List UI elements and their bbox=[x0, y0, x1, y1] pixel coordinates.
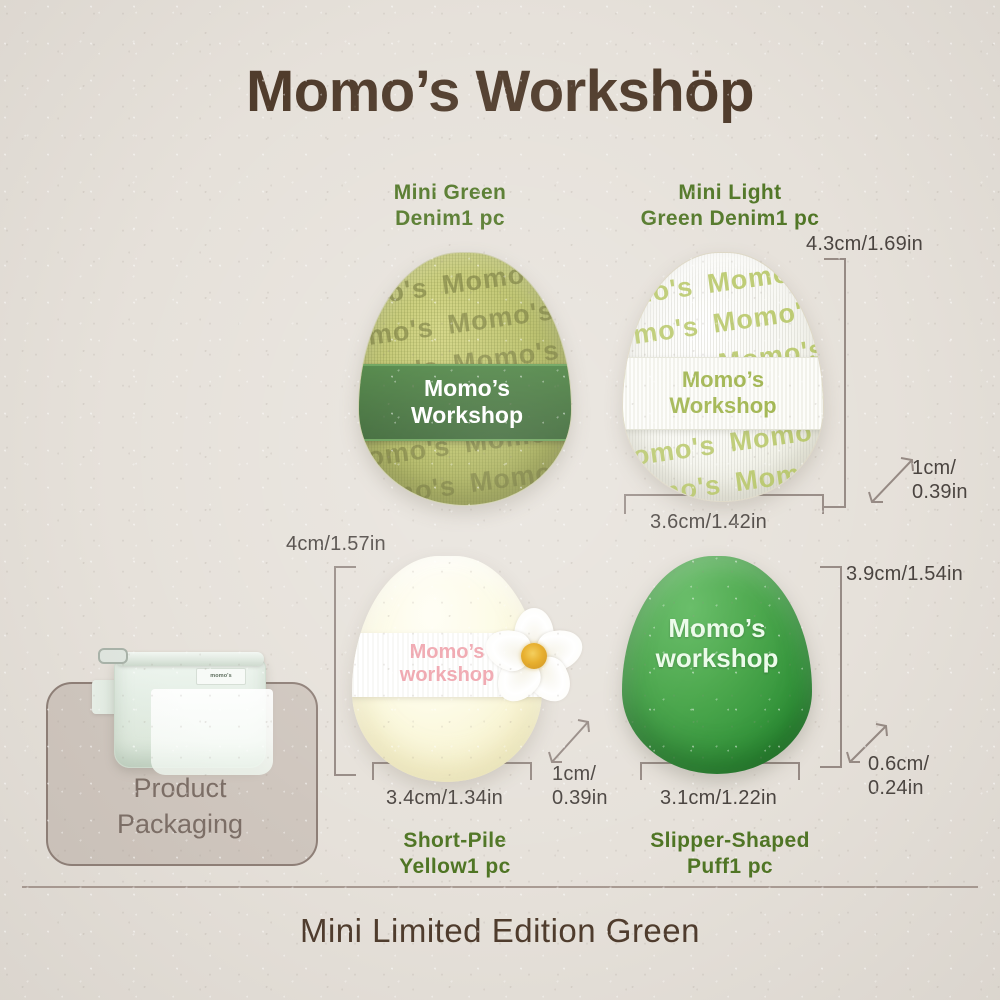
footer-caption: Mini Limited Edition Green bbox=[0, 912, 1000, 950]
dimension-green-puff-width: 3.1cm/1.22in bbox=[660, 786, 777, 810]
dimension-green-puff-height: 3.9cm/1.54in bbox=[846, 562, 963, 586]
dimension-yellow-thickness: 1cm/ 0.39in bbox=[552, 762, 608, 810]
dimension-light-green-thickness: 1cm/ 0.39in bbox=[912, 456, 968, 504]
pouch-window bbox=[151, 689, 273, 775]
pouch-zipper-pull-icon bbox=[98, 648, 128, 664]
product-label-slipper-shaped-puff: Slipper-Shaped Puff1 pc bbox=[600, 828, 860, 880]
bracket-green-puff-height bbox=[820, 566, 842, 768]
bracket-light-green-thickness bbox=[868, 448, 918, 508]
dimension-yellow-height: 4cm/1.57in bbox=[286, 532, 386, 556]
footer-divider bbox=[22, 886, 978, 888]
packaging-label: Product Packaging bbox=[46, 770, 314, 842]
dimension-yellow-width: 3.4cm/1.34in bbox=[386, 786, 503, 810]
product-label-short-pile-yellow: Short-Pile Yellow1 pc bbox=[340, 828, 570, 880]
product-image-mini-light-green-denim: Momo's Momo's Momo's Momo's Momo's Momo'… bbox=[622, 252, 822, 500]
product-image-mini-green-denim: Momo's Momo's Momo's Momo's Momo's Momo'… bbox=[358, 252, 570, 504]
pouch-brand-tag: momo's workshop bbox=[196, 668, 246, 685]
page-title: Momo’s Workshöp bbox=[0, 58, 1000, 125]
green-silicone-puff-body: Momo’s workshop bbox=[622, 556, 812, 774]
product-label-mini-light-green-denim: Mini Light Green Denim1 pc bbox=[600, 180, 860, 232]
brand-band-label: Momo’s Workshop bbox=[622, 357, 824, 430]
white-denim-puff-body: Momo's Momo's Momo's Momo's Momo's Momo'… bbox=[622, 252, 824, 502]
green-denim-puff-body: Momo's Momo's Momo's Momo's Momo's Momo'… bbox=[358, 252, 572, 506]
pouch-zipper bbox=[116, 652, 264, 666]
flower-decoration bbox=[486, 608, 582, 704]
brand-band-label: Momo’s Workshop bbox=[358, 364, 572, 441]
brand-band-label: Momo’s workshop bbox=[622, 613, 812, 674]
dimension-green-puff-thickness: 0.6cm/ 0.24in bbox=[868, 752, 929, 800]
packaging-pouch-image: momo's workshop bbox=[92, 640, 270, 768]
bracket-light-green-height bbox=[824, 258, 846, 508]
bracket-yellow-thickness bbox=[548, 712, 594, 768]
dimension-light-green-width: 3.6cm/1.42in bbox=[650, 510, 767, 534]
dimension-light-green-height: 4.3cm/1.69in bbox=[806, 232, 923, 256]
flower-center bbox=[521, 643, 547, 669]
product-label-mini-green-denim: Mini Green Denim1 pc bbox=[340, 180, 560, 232]
product-image-slipper-shaped-puff: Momo’s workshop bbox=[622, 556, 812, 774]
